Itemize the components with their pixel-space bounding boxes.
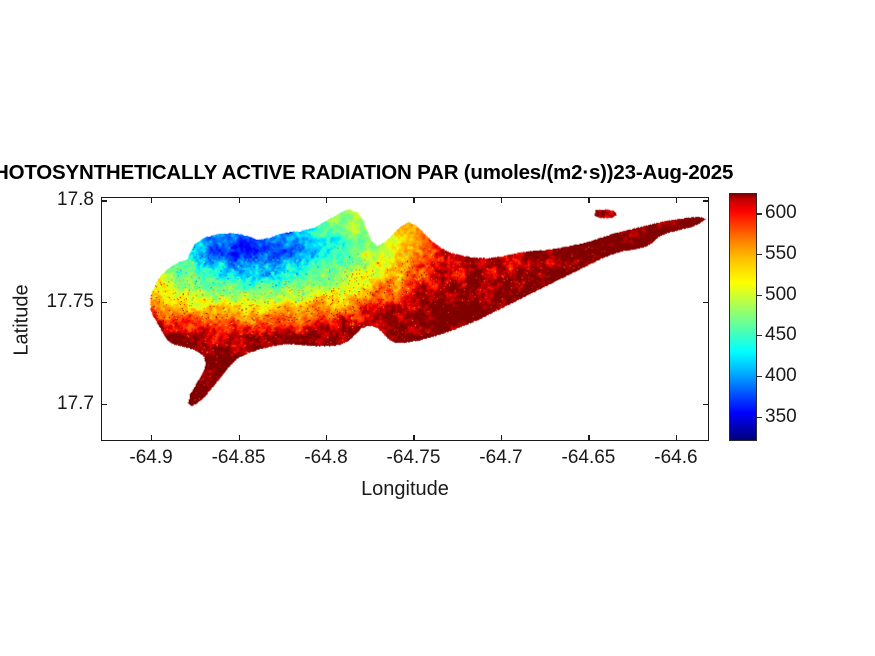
x-tick-mark [588, 197, 589, 203]
y-tick-mark [703, 404, 709, 405]
x-tick-label-5: -64.65 [562, 447, 616, 469]
colorbar-tick-mark [757, 254, 762, 255]
map-axes[interactable] [101, 197, 709, 441]
y-tick-mark [101, 404, 107, 405]
colorbar-tick-label-4: 400 [765, 365, 797, 387]
figure-canvas: HOTOSYNTHETICALLY ACTIVE RADIATION PAR (… [0, 0, 875, 656]
y-tick-mark [703, 302, 709, 303]
x-tick-mark [676, 435, 677, 441]
x-tick-mark [151, 435, 152, 441]
x-tick-mark [413, 197, 414, 203]
y-tick-mark [101, 302, 107, 303]
x-tick-mark [588, 435, 589, 441]
colorbar-tick-label-3: 450 [765, 324, 797, 346]
y-tick-mark [101, 200, 107, 201]
x-tick-label-6: -64.6 [654, 447, 697, 469]
par-heatmap-raster [102, 198, 708, 440]
y-tick-label-2: 17.7 [57, 393, 94, 415]
colorbar-tick-label-0: 600 [765, 202, 797, 224]
x-tick-mark [326, 435, 327, 441]
y-axis-title: Latitude [11, 284, 34, 355]
x-axis-title: Longitude [361, 478, 449, 501]
x-tick-mark [326, 197, 327, 203]
y-tick-mark [703, 200, 709, 201]
figure-title: HOTOSYNTHETICALLY ACTIVE RADIATION PAR (… [0, 161, 854, 185]
y-tick-label-1: 17.75 [46, 291, 94, 313]
colorbar-tick-mark [757, 417, 762, 418]
colorbar-tick-mark [757, 295, 762, 296]
x-tick-label-3: -64.75 [387, 447, 441, 469]
y-tick-label-0: 17.8 [57, 189, 94, 211]
colorbar-tick-mark [757, 213, 762, 214]
x-tick-label-4: -64.7 [479, 447, 522, 469]
x-tick-mark [501, 435, 502, 441]
x-tick-mark [239, 197, 240, 203]
x-tick-mark [151, 197, 152, 203]
x-tick-mark [676, 197, 677, 203]
x-tick-label-0: -64.9 [129, 447, 172, 469]
colorbar-tick-mark [757, 376, 762, 377]
x-tick-label-2: -64.8 [304, 447, 347, 469]
colorbar-tick-mark [757, 335, 762, 336]
x-tick-mark [239, 435, 240, 441]
colorbar-tick-label-1: 550 [765, 243, 797, 265]
colorbar-tick-label-5: 350 [765, 406, 797, 428]
colorbar-tick-label-2: 500 [765, 284, 797, 306]
colorbar[interactable] [729, 193, 757, 441]
x-tick-label-1: -64.85 [212, 447, 266, 469]
x-tick-mark [501, 197, 502, 203]
x-tick-mark [413, 435, 414, 441]
